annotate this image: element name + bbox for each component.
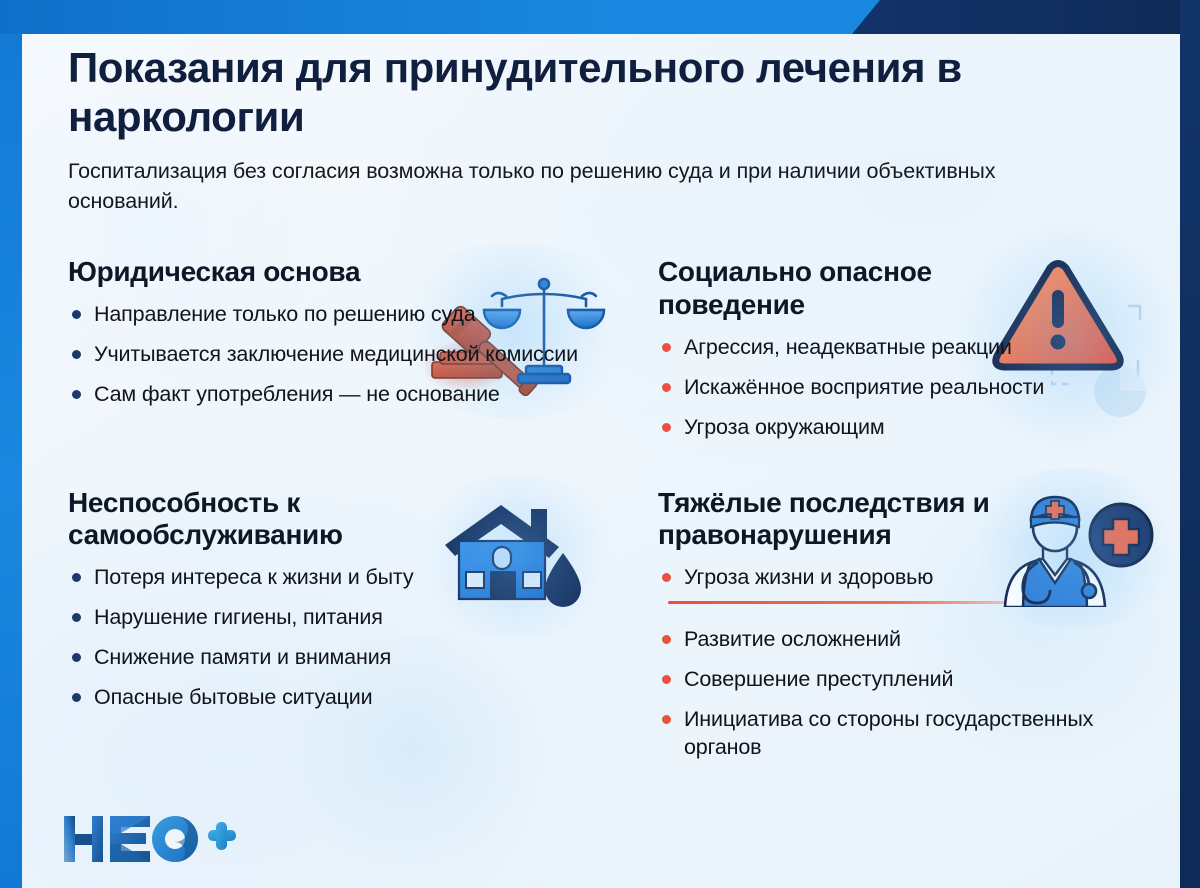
block-bullet-list: Потеря интереса к жизни и быту Нарушение…	[68, 564, 636, 711]
frame-left-blue-bar	[0, 0, 22, 888]
list-item: Угроза жизни и здоровью	[658, 564, 1158, 591]
block-severe-consequences: Тяжёлые последствия и правонарушения Угр…	[644, 441, 1158, 761]
neo-plus-logo	[62, 812, 238, 866]
list-item: Угроза окружающим	[658, 414, 1158, 441]
list-item: Инициатива со стороны государственных ор…	[658, 706, 1158, 760]
page-subtitle: Госпитализация без согласия возможна тол…	[68, 157, 1003, 216]
block-bullet-list: Направление только по решению суда Учиты…	[68, 301, 636, 408]
block-title: Неспособность к самообслуживанию	[68, 487, 468, 553]
frame-top-navy-bar	[840, 0, 1200, 34]
infographic-poster: Показания для принудительного лечения в …	[0, 0, 1200, 888]
list-item: Агрессия, неадекватные реакции	[658, 334, 1158, 361]
block-dangerous-behaviour: Социально опасное поведение Агрессия, не…	[644, 256, 1158, 441]
frame-top-blue-bar	[0, 0, 880, 34]
list-item: Нарушение гигиены, питания	[68, 604, 636, 631]
section-divider	[668, 601, 1068, 604]
block-bullet-list-primary: Угроза жизни и здоровью	[658, 564, 1158, 591]
block-bullet-list: Агрессия, неадекватные реакции Искажённо…	[658, 334, 1158, 441]
list-item: Сам факт употребления — не основание	[68, 381, 636, 408]
block-legal-basis: Юридическая основа Направление только по…	[68, 256, 644, 441]
content-grid: Юридическая основа Направление только по…	[68, 256, 1158, 761]
block-title: Социально опасное поведение	[658, 256, 1028, 322]
list-item: Потеря интереса к жизни и быту	[68, 564, 636, 591]
list-item: Опасные бытовые ситуации	[68, 684, 636, 711]
list-item: Снижение памяти и внимания	[68, 644, 636, 671]
block-bullet-list: Развитие осложнений Совершение преступле…	[658, 626, 1158, 760]
page-title: Показания для принудительного лечения в …	[68, 44, 1028, 141]
poster-canvas: Показания для принудительного лечения в …	[22, 34, 1180, 888]
list-item: Развитие осложнений	[658, 626, 1158, 653]
block-title: Тяжёлые последствия и правонарушения	[658, 487, 1058, 553]
block-self-care-inability: Неспособность к самообслуживанию Потеря …	[68, 441, 644, 761]
list-item: Направление только по решению суда	[68, 301, 636, 328]
list-item: Учитывается заключение медицинской комис…	[68, 341, 636, 368]
poster-header: Показания для принудительного лечения в …	[68, 44, 1028, 216]
list-item: Искажённое восприятие реальности	[658, 374, 1158, 401]
frame-right-navy-bar	[1180, 0, 1200, 888]
list-item: Совершение преступлений	[658, 666, 1158, 693]
block-title: Юридическая основа	[68, 256, 468, 289]
